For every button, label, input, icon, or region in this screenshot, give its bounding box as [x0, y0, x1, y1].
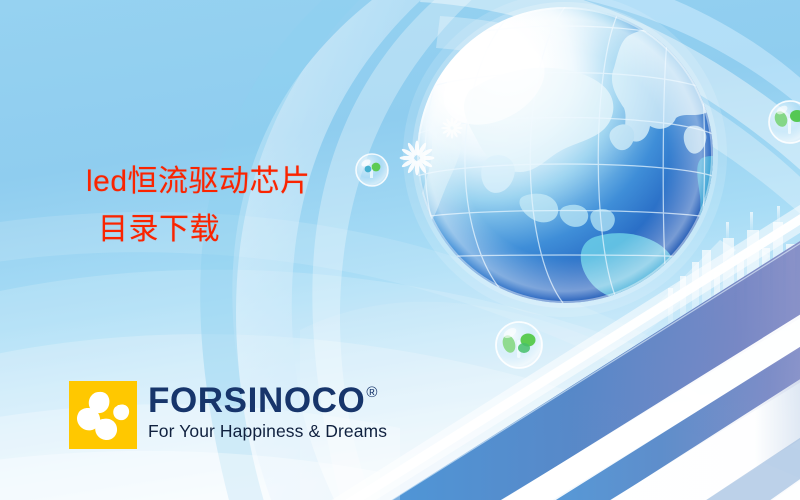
headline-line-1: led恒流驱动芯片 — [86, 165, 311, 198]
logo-wordmark-text: FORSINOCO — [148, 383, 365, 418]
headline: led恒流驱动芯片 目录下载 — [86, 164, 311, 248]
forsinoco-pinwheel-mark — [69, 381, 137, 449]
promo-banner: led恒流驱动芯片 目录下载 FORSINOCO ® For Your Happ… — [0, 0, 800, 500]
bubble-sprout-center — [496, 322, 542, 368]
company-logo[interactable]: FORSINOCO ® For Your Happiness & Dreams — [69, 381, 387, 449]
registered-trademark-icon: ® — [366, 385, 378, 400]
headline-line-2: 目录下载 — [86, 212, 311, 247]
logo-wordmark: FORSINOCO ® — [148, 383, 387, 418]
logo-text-block: FORSINOCO ® For Your Happiness & Dreams — [148, 381, 387, 441]
bubble-pinwheel-left — [356, 154, 388, 186]
logo-tagline: For Your Happiness & Dreams — [148, 422, 387, 441]
